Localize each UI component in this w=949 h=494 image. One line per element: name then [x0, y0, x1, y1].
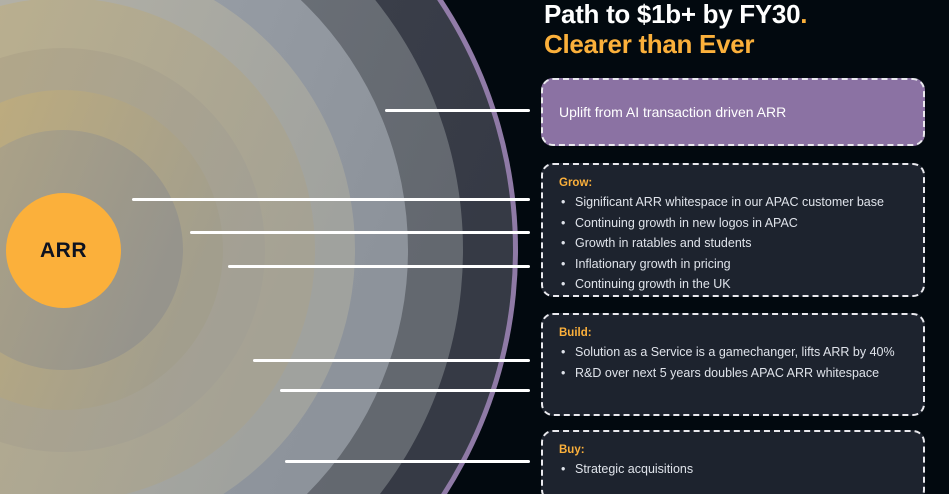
card-grow[interactable]: Grow: Significant ARR whitespace in our … — [541, 163, 925, 297]
list-item: Solution as a Service is a gamechanger, … — [559, 346, 907, 359]
list-item: Growth in ratables and students — [559, 237, 907, 250]
card-buy[interactable]: Buy: Strategic acquisitions — [541, 430, 925, 494]
connector-grow-3 — [228, 265, 530, 268]
connector-buy-1 — [285, 460, 530, 463]
list-item: Continuing growth in new logos in APAC — [559, 217, 907, 230]
connector-grow-2 — [190, 231, 530, 234]
connector-uplift — [385, 109, 530, 112]
arr-radial-diagram: ARR — [0, 0, 540, 494]
card-build-bullets: Solution as a Service is a gamechanger, … — [559, 346, 907, 379]
card-uplift-text: Uplift from AI transaction driven ARR — [559, 104, 786, 120]
arr-center-circle: ARR — [6, 193, 121, 308]
connector-build-2 — [280, 389, 530, 392]
card-build[interactable]: Build: Solution as a Service is a gamech… — [541, 313, 925, 416]
card-buy-title: Buy: — [559, 444, 907, 456]
card-grow-title: Grow: — [559, 177, 907, 189]
list-item: Inflationary growth in pricing — [559, 258, 907, 271]
card-grow-bullets: Significant ARR whitespace in our APAC c… — [559, 196, 907, 291]
card-uplift[interactable]: Uplift from AI transaction driven ARR — [541, 78, 925, 146]
page-title: Path to $1b+ by FY30. Clearer than Ever — [544, 0, 925, 58]
card-build-title: Build: — [559, 327, 907, 339]
page-title-line1: Path to $1b+ by FY30. — [544, 0, 925, 28]
page-title-line2: Clearer than Ever — [544, 30, 925, 58]
list-item: Continuing growth in the UK — [559, 278, 907, 291]
card-buy-bullets: Strategic acquisitions — [559, 463, 907, 476]
connector-grow-1 — [132, 198, 530, 201]
content-column: Path to $1b+ by FY30. Clearer than Ever … — [541, 0, 925, 58]
list-item: Strategic acquisitions — [559, 463, 907, 476]
connector-build-1 — [253, 359, 530, 362]
page-title-line1-text: Path to $1b+ by FY30 — [544, 0, 800, 29]
list-item: Significant ARR whitespace in our APAC c… — [559, 196, 907, 209]
arr-center-label: ARR — [40, 239, 87, 263]
page-title-period: . — [800, 0, 807, 29]
list-item: R&D over next 5 years doubles APAC ARR w… — [559, 367, 907, 380]
